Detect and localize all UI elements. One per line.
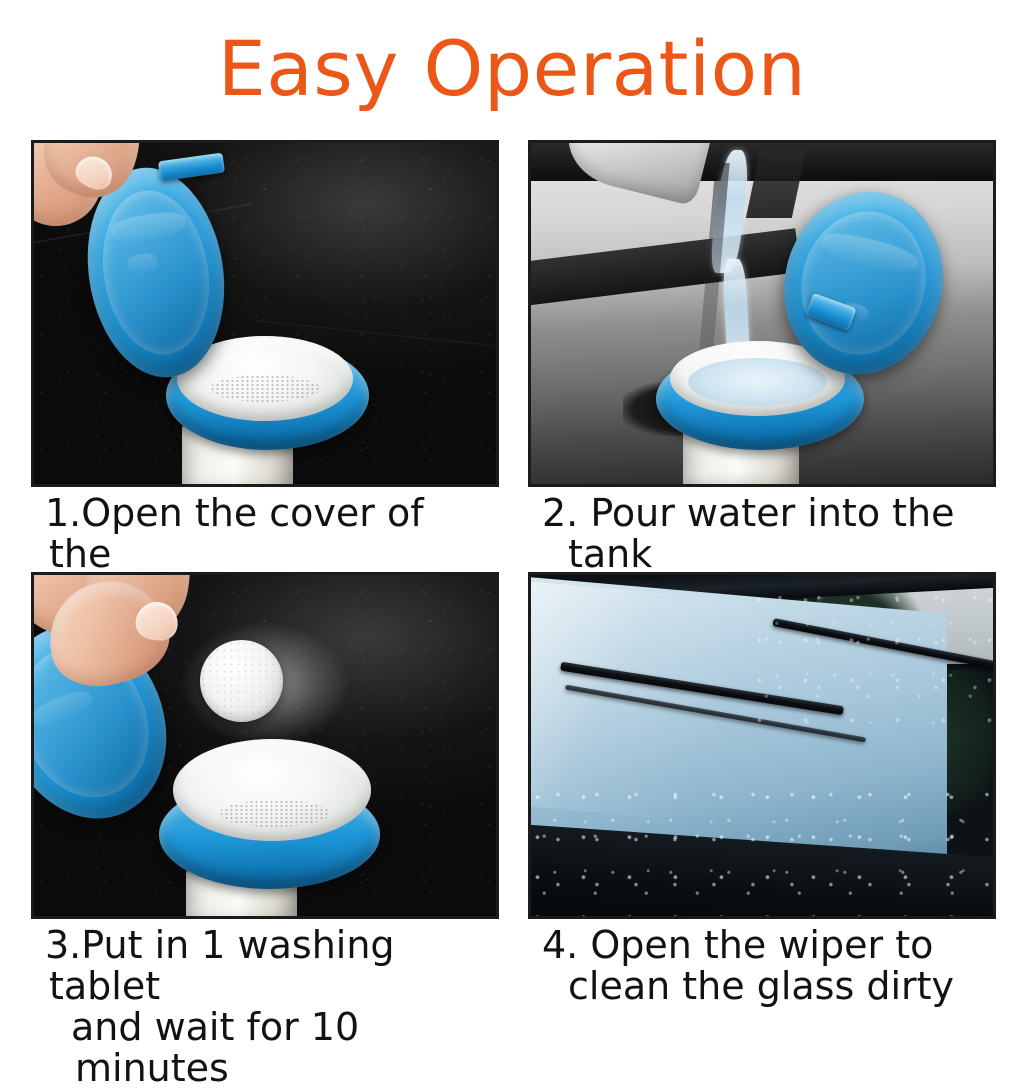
step-3-photo xyxy=(31,572,499,919)
step-4-caption-line1: 4. Open the wiper to xyxy=(542,923,933,967)
page-title: Easy Operation xyxy=(0,26,1024,112)
tablet-texture xyxy=(200,640,283,722)
washing-tablet xyxy=(200,640,283,722)
step-card-4: 4. Open the wiper to clean the glass dir… xyxy=(528,572,996,1007)
filter-mesh xyxy=(219,800,330,827)
step-card-2: 2. Pour water into the tank xyxy=(528,140,996,575)
water-surface xyxy=(688,358,827,406)
water-droplets xyxy=(753,589,993,725)
steps-grid: 1.Open the cover of the washer tank xyxy=(31,140,995,1012)
step-4-caption: 4. Open the wiper to clean the glass dir… xyxy=(528,925,996,1007)
step-card-3: 3.Put in 1 washing tablet and wait for 1… xyxy=(31,572,499,1089)
step-3-caption: 3.Put in 1 washing tablet and wait for 1… xyxy=(31,925,499,1089)
step-2-caption-line1: 2. Pour water into the xyxy=(542,491,955,535)
step-2-photo xyxy=(528,140,996,487)
lid-inner-face xyxy=(92,183,221,362)
infographic-page: Easy Operation xyxy=(0,0,1024,1024)
step-2-caption: 2. Pour water into the tank xyxy=(528,493,996,575)
step-card-1: 1.Open the cover of the washer tank xyxy=(31,140,499,616)
step-3-caption-line1: 3.Put in 1 washing tablet xyxy=(45,923,395,1008)
step-1-caption-line1: 1.Open the cover of the xyxy=(45,491,424,576)
filter-mesh xyxy=(210,375,321,402)
step-4-caption-line2: clean the glass dirty xyxy=(546,966,992,1007)
step-1-photo xyxy=(31,140,499,487)
step-2-caption-line2: tank xyxy=(546,534,992,575)
lid-inner-face xyxy=(787,198,941,367)
water-droplets xyxy=(531,786,993,916)
step-4-photo xyxy=(528,572,996,919)
step-3-caption-line2: and wait for 10 minutes xyxy=(49,1007,495,1089)
